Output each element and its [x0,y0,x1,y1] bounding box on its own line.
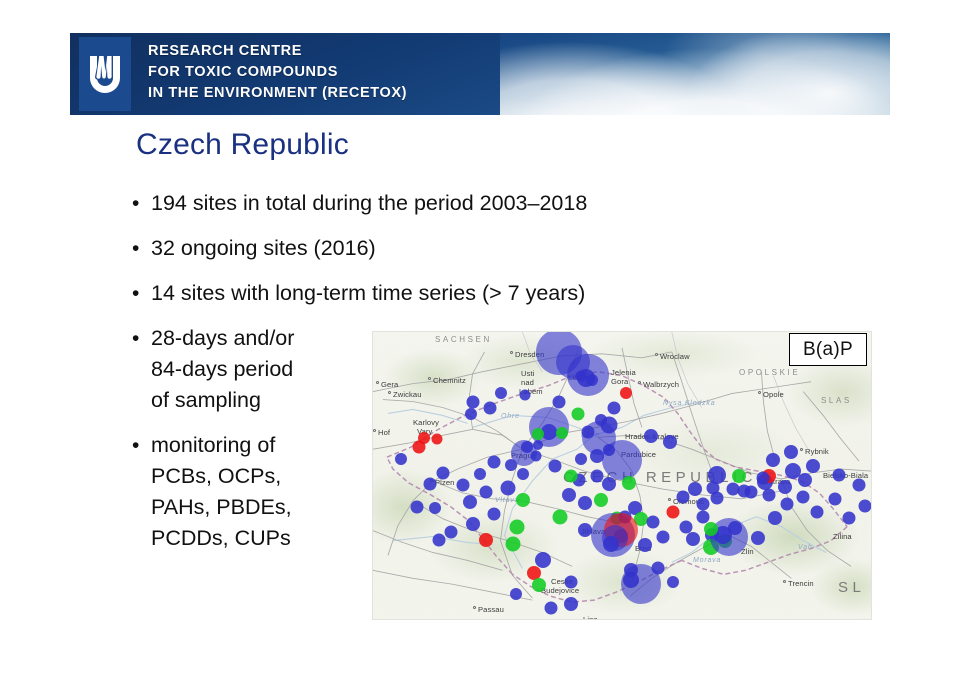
map-site-marker-blue [667,576,679,588]
map-site-marker-blue [576,371,587,382]
map-label-city: Hof [378,428,390,437]
map-site-marker-red [432,434,443,445]
map-site-marker-green [622,476,636,490]
bullet-marker-icon: • [132,188,151,219]
map-label-river: Vah [798,544,813,551]
map-label-city: Karlovy [413,418,439,427]
map-site-marker-blue [602,440,642,480]
map-label-country: SL [838,579,865,596]
map-site-marker-blue [784,445,798,459]
map-site-marker-blue [575,453,587,465]
map-label-city: Walbrzych [643,380,679,389]
masaryk-university-mu-logo-icon [88,55,122,93]
map-site-marker-green [553,510,568,525]
map-label-city: Gora [611,377,628,386]
map-site-marker-blue [638,538,652,552]
map-label-city: Zwickau [393,390,422,399]
map-site-marker-green [506,537,521,552]
map-label-city: Plzen [435,478,455,487]
page-title: Czech Republic [136,128,349,162]
map-site-marker-blue [781,498,794,511]
map-site-marker-blue [510,588,522,600]
map-site-marker-blue [757,472,770,485]
czech-republic-monitoring-map: SACHSENDresdenGeraChemnitzZwickauUstinad… [372,331,872,620]
map-site-marker-blue [708,466,726,484]
bullet-text: 194 sites in total during the period 200… [151,188,587,219]
map-label-city: Passau [478,605,504,614]
map-label-region: SACHSEN [435,335,492,344]
bullet-text: 32 ongoing sites (2016) [151,233,376,264]
map-label-city: Opole [763,390,784,399]
map-label-city: Chemnitz [433,376,466,385]
map-label-city: nad [521,378,534,387]
map-site-marker-blue [466,517,480,531]
map-site-marker-blue [437,467,450,480]
map-site-marker-blue [728,521,742,535]
map-site-marker-blue [833,469,846,482]
map-label-river: Morava [693,557,721,564]
map-site-marker-blue [520,390,531,401]
map-site-marker-blue [663,435,677,449]
map-site-marker-blue [853,479,866,492]
bullet-marker-icon: • [132,233,151,264]
map-site-marker-blue [644,429,658,443]
banner-title-block: RESEARCH CENTRE FOR TOXIC COMPOUNDS IN T… [148,41,407,104]
map-site-marker-blue [811,506,824,519]
map-site-marker-blue [495,387,507,399]
map-label-region: SLAS [821,396,852,405]
map-site-marker-blue [424,478,437,491]
map-site-marker-green [572,408,585,421]
map-site-marker-blue [591,470,604,483]
map-site-marker-green [556,427,568,439]
map-site-marker-blue [647,516,660,529]
map-label-city: Usti [521,369,534,378]
map-site-marker-green [532,578,546,592]
map-site-marker-blue [677,491,690,504]
map-site-marker-blue [531,451,542,462]
map-site-marker-blue [535,552,551,568]
banner-line-3: IN THE ENVIRONMENT (RECETOX) [148,83,407,104]
map-site-marker-green [594,493,608,507]
map-site-marker-blue [411,501,424,514]
map-site-marker-blue [480,486,493,499]
map-site-marker-blue [859,500,872,513]
map-site-marker-blue [562,488,576,502]
map-site-marker-blue [457,479,470,492]
bullet-marker-icon: • [132,430,151,461]
map-site-marker-blue [549,460,562,473]
banner-line-1: RESEARCH CENTRE [148,41,407,62]
bullet-item: •14 sites with long-term time series (> … [132,278,772,309]
map-label-region: OPOLSKIE [739,368,800,377]
bullet-marker-icon: • [132,278,151,309]
bullet-text: 14 sites with long-term time series (> 7… [151,278,585,309]
map-label-city: Zilina [833,532,852,541]
map-label-river: Ohre [501,413,520,420]
map-site-marker-blue [766,453,780,467]
map-site-marker-green [532,428,544,440]
map-site-marker-blue [433,534,446,547]
map-site-marker-blue [429,502,441,514]
map-site-marker-red [667,506,680,519]
bullet-text: monitoring of PCBs, OCPs, PAHs, PBDEs, P… [151,430,292,554]
map-site-marker-red [479,533,493,547]
map-label-river: Nysa Klodzka [663,400,715,407]
bullet-marker-icon: • [132,323,151,354]
map-site-marker-blue [586,374,598,386]
map-site-marker-green [565,470,578,483]
map-site-marker-blue [602,477,616,491]
map-site-marker-blue [564,597,578,611]
map-site-marker-red [620,387,632,399]
map-site-marker-blue [688,482,702,496]
map-site-marker-green [732,469,746,483]
map-site-marker-blue [395,453,407,465]
map-site-marker-blue [843,512,856,525]
map-site-marker-blue [697,498,710,511]
map-site-marker-blue [484,402,497,415]
map-site-marker-blue [768,511,782,525]
map-site-marker-blue [565,576,578,589]
map-label-city: Trencin [788,579,814,588]
map-label-city: Rybnik [805,447,829,456]
map-site-marker-blue [505,459,517,471]
map-label-city: Wroclaw [660,352,690,361]
map-site-marker-green [510,520,525,535]
map-site-marker-green [516,493,530,507]
map-site-marker-blue [806,459,820,473]
map-site-marker-blue [467,396,480,409]
bullet-text: 28-days and/or 84-days period of samplin… [151,323,294,416]
map-site-marker-blue [751,531,765,545]
banner-line-2: FOR TOXIC COMPOUNDS [148,62,407,83]
map-site-marker-blue [533,440,543,450]
map-site-marker-blue [488,456,501,469]
map-site-marker-blue [738,485,751,498]
map-site-marker-blue [797,491,810,504]
map-site-marker-blue [623,572,639,588]
map-site-marker-green [704,522,718,536]
map-site-marker-blue [445,526,458,539]
map-site-marker-blue [763,489,776,502]
bap-callout-label: B(a)P [789,333,867,366]
map-site-marker-blue [657,531,670,544]
map-site-marker-blue [798,473,812,487]
map-label-city: Gera [381,380,398,389]
map-site-marker-blue [465,408,477,420]
map-label-city: Jelenia [611,368,636,377]
map-site-marker-blue [474,468,486,480]
map-site-marker-blue [603,536,619,552]
map-site-marker-blue [501,481,516,496]
bullet-item: •194 sites in total during the period 20… [132,188,772,219]
map-site-marker-blue [778,480,792,494]
map-site-marker-blue [829,493,842,506]
map-site-marker-blue [553,396,566,409]
recetox-header-banner: RESEARCH CENTRE FOR TOXIC COMPOUNDS IN T… [70,33,890,115]
map-site-marker-blue [488,508,501,521]
map-site-marker-blue [578,523,592,537]
map-site-marker-blue [463,495,477,509]
map-site-marker-red [413,441,426,454]
map-site-marker-blue [545,602,558,615]
map-site-marker-blue [608,402,621,415]
masaryk-university-logo-box [79,37,131,111]
bullet-item: •32 ongoing sites (2016) [132,233,772,264]
map-label-city: Linz [583,615,597,620]
map-site-marker-blue [686,532,700,546]
map-site-marker-blue [517,468,529,480]
map-site-marker-blue [578,496,592,510]
